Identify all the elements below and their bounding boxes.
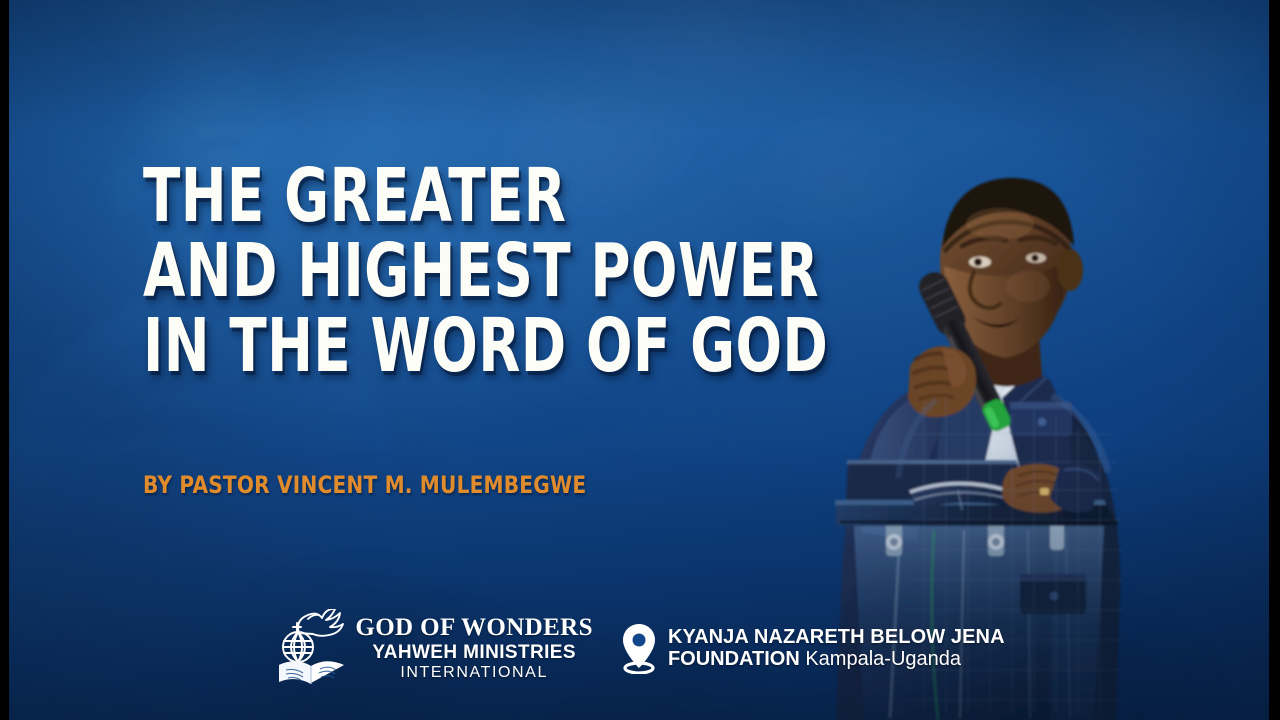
venue-info: KYANJA NAZARETH BELOW JENA FOUNDATION Ka… [619, 622, 1005, 674]
letterbox-bar-left [0, 0, 9, 720]
logo-line-1: GOD OF WONDERS [355, 615, 593, 640]
venue-text: KYANJA NAZARETH BELOW JENA FOUNDATION Ka… [668, 626, 1005, 671]
ministry-logo: GOD OF WONDERS YAHWEH MINISTRIES INTERNA… [275, 609, 593, 687]
venue-city-label: Kampala-Uganda [805, 648, 961, 670]
letterbox-bar-right [1269, 0, 1280, 720]
venue-foundation-label: FOUNDATION [668, 648, 800, 670]
ministry-logo-wordmark: GOD OF WONDERS YAHWEH MINISTRIES INTERNA… [355, 615, 593, 681]
sermon-title: THE GREATER AND HIGHEST POWER IN THE WOR… [143, 160, 1069, 385]
logo-line-3: INTERNATIONAL [400, 665, 548, 681]
venue-line-2: FOUNDATION Kampala-Uganda [668, 648, 1005, 670]
footer-bar: GOD OF WONDERS YAHWEH MINISTRIES INTERNA… [0, 598, 1280, 698]
venue-line-1: KYANJA NAZARETH BELOW JENA [668, 626, 1005, 648]
location-pin-icon [619, 622, 659, 674]
title-line-1: THE GREATER [143, 160, 828, 233]
title-card-stage: THE GREATER AND HIGHEST POWER IN THE WOR… [0, 0, 1280, 720]
logo-line-2: YAHWEH MINISTRIES [372, 643, 576, 662]
title-line-2: AND HIGHEST POWER [143, 235, 828, 308]
speaker-credit: BY PASTOR VINCENT M. MULEMBEGWE [143, 471, 586, 499]
title-line-3: IN THE WORD OF GOD [143, 310, 828, 383]
dove-globe-book-icon [275, 609, 349, 687]
